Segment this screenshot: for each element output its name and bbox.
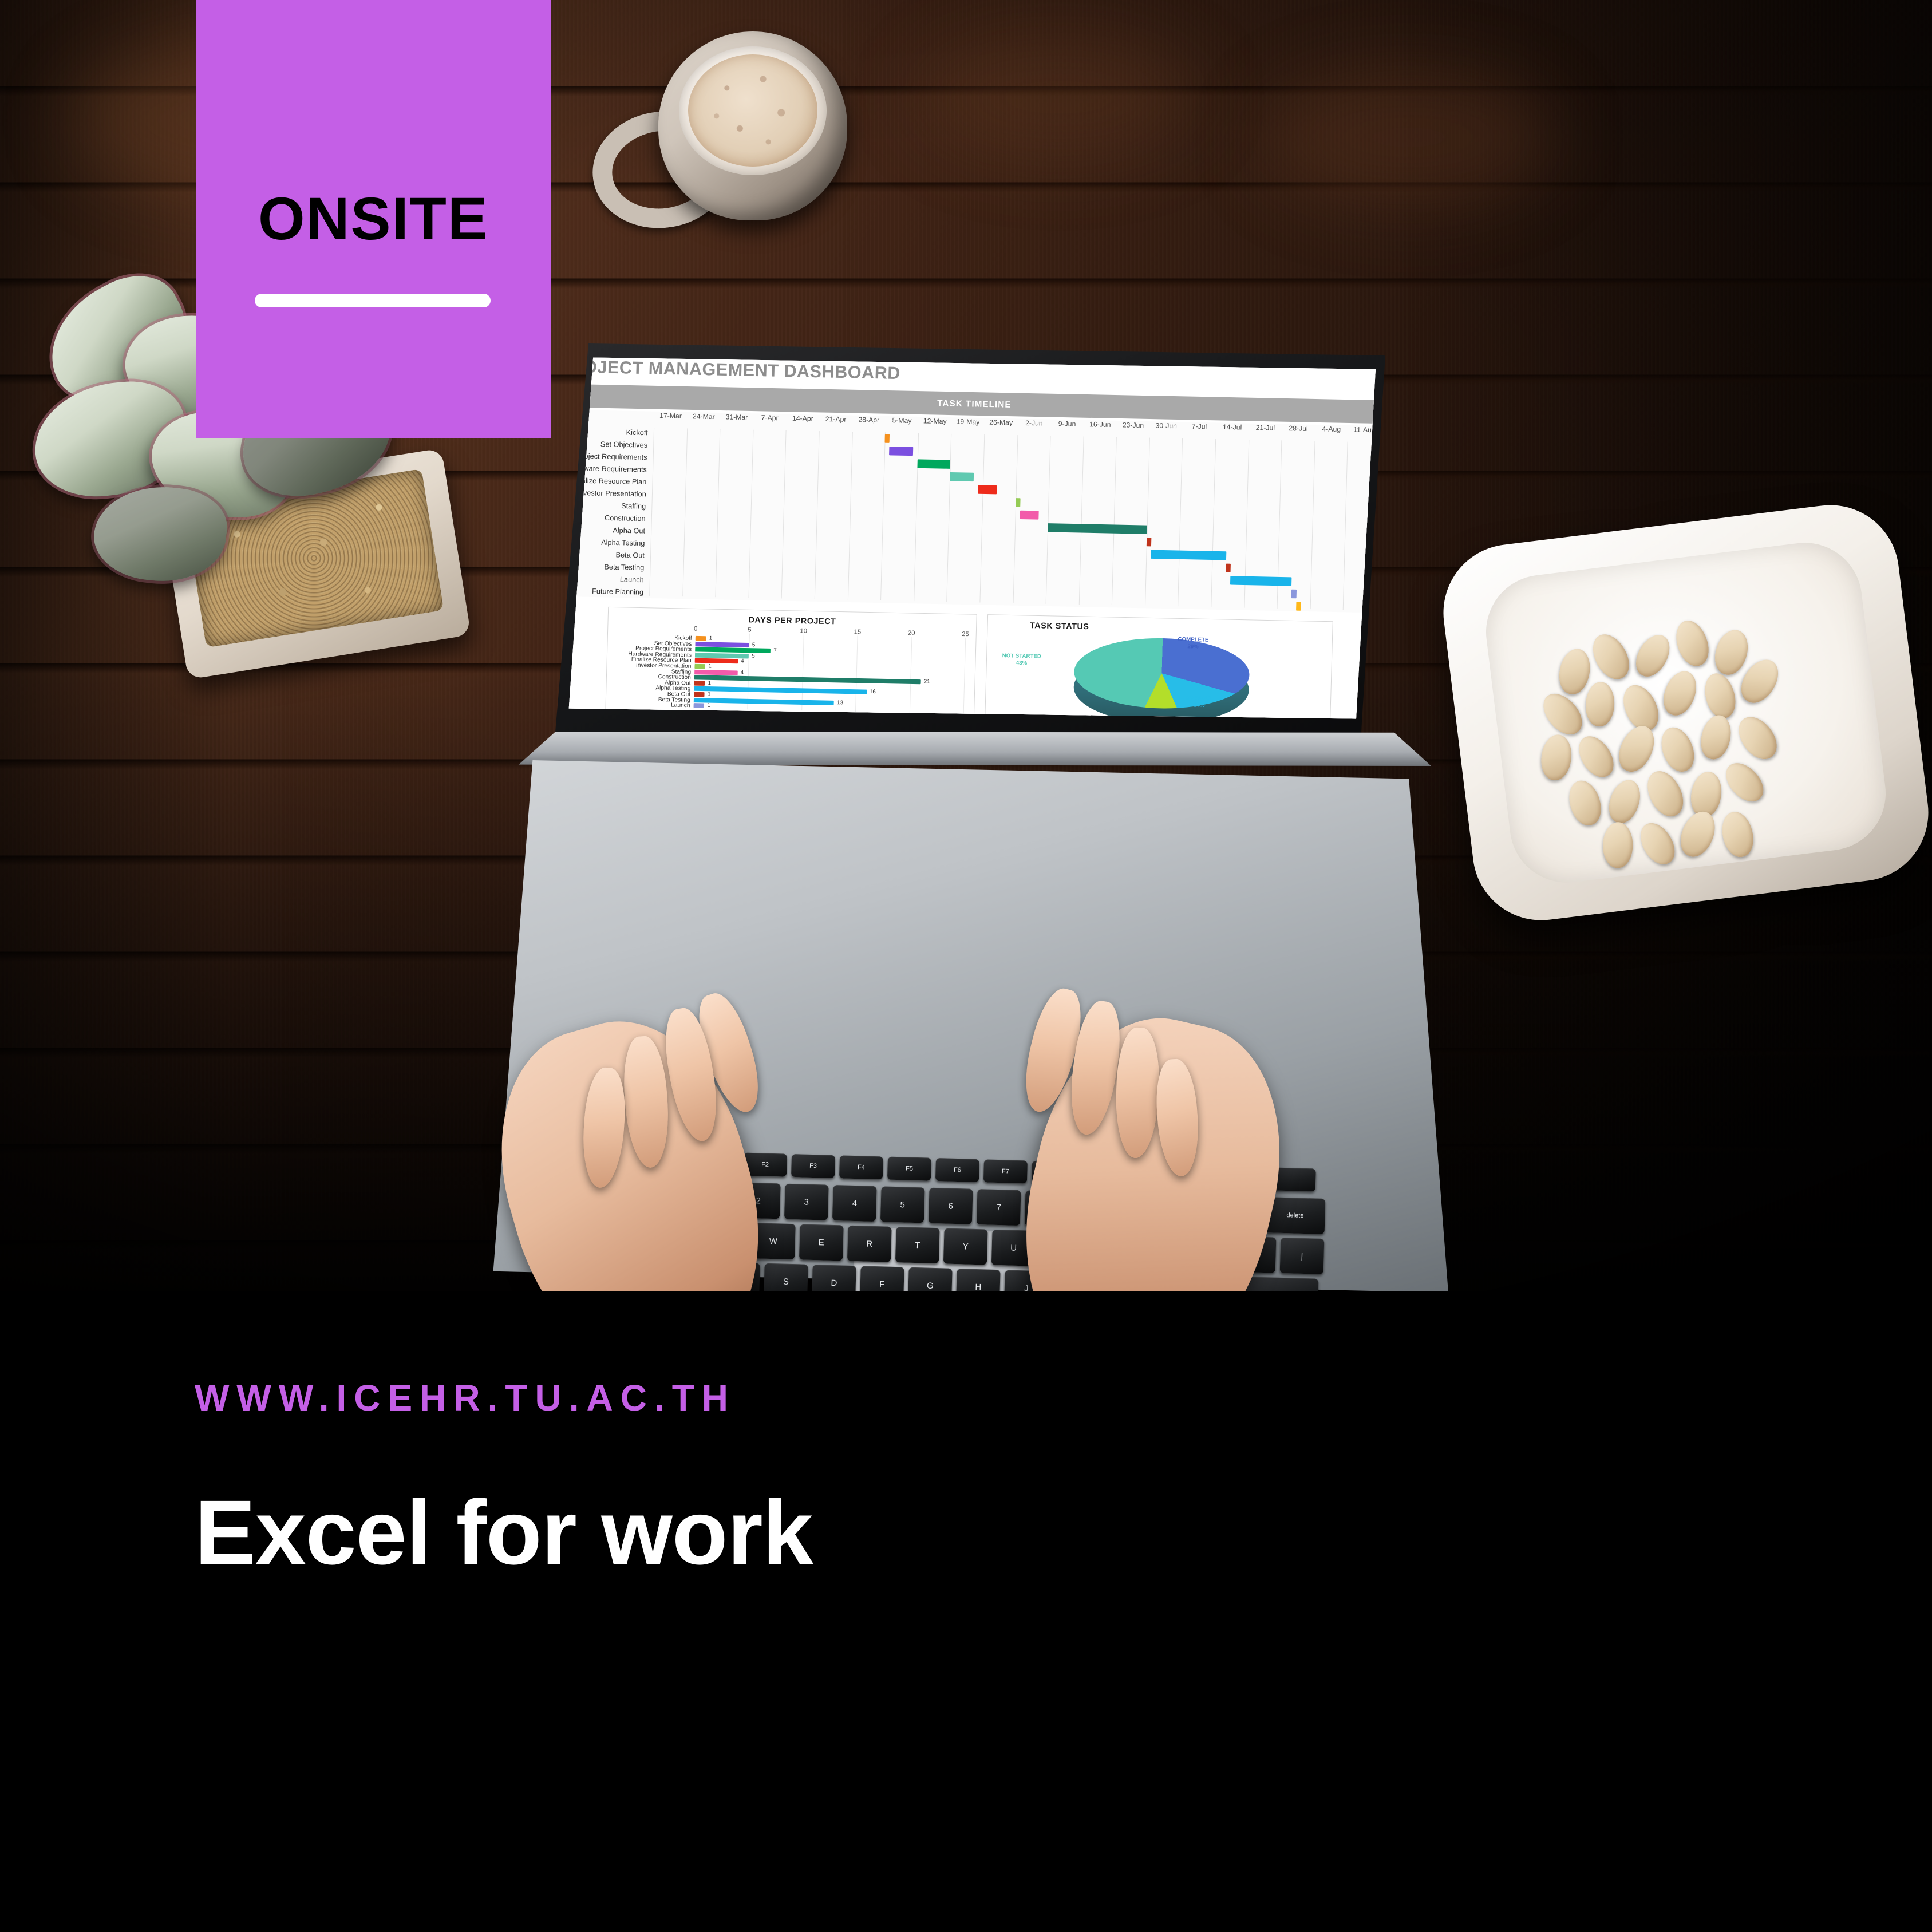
website-url[interactable]: WWW.ICEHR.TU.AC.TH bbox=[195, 1377, 736, 1419]
days-tick: 0 bbox=[694, 625, 698, 632]
key-f7[interactable]: F7 bbox=[983, 1159, 1028, 1183]
gantt-tick: 14-Apr bbox=[792, 414, 813, 423]
days-bar bbox=[694, 692, 705, 697]
gantt-bar bbox=[1147, 538, 1152, 546]
gantt-tick: 21-Apr bbox=[825, 415, 847, 424]
gantt-bar bbox=[889, 447, 913, 456]
pie-label-complete: COMPLETE29% bbox=[1178, 636, 1208, 650]
gantt-bar bbox=[1016, 498, 1021, 507]
gantt-tick: 19-May bbox=[956, 417, 979, 426]
dashboard-title: PROJECT MANAGEMENT DASHBOARD bbox=[566, 357, 900, 384]
gantt-tick: 23-Jun bbox=[1123, 421, 1144, 429]
gantt-bar bbox=[1296, 602, 1301, 610]
gantt-tick: 30-Jun bbox=[1155, 421, 1177, 430]
laptop-screen: PROJECT MANAGEMENT DASHBOARD TASK TIMELI… bbox=[566, 356, 1376, 722]
days-value-label: 1 bbox=[708, 663, 712, 669]
gantt-row-label: Set Objectives bbox=[600, 440, 648, 449]
laptop: PROJECT MANAGEMENT DASHBOARD TASK TIMELI… bbox=[498, 343, 1437, 1291]
days-tick: 10 bbox=[800, 627, 807, 634]
gantt-bar bbox=[885, 434, 890, 442]
gantt-tick: 17-Mar bbox=[659, 412, 682, 420]
days-tick: 25 bbox=[962, 631, 969, 638]
key-f[interactable]: F bbox=[860, 1266, 904, 1291]
gantt-bar bbox=[1151, 550, 1226, 560]
days-value-label: 16 bbox=[870, 689, 876, 695]
gantt-tick: 5-May bbox=[892, 416, 911, 425]
gantt-bar bbox=[978, 485, 997, 494]
days-per-project-panel: DAYS PER PROJECT 0510152025 Kickoff1Set … bbox=[605, 607, 977, 721]
pie-label-not-started: NOT STARTED43% bbox=[1002, 653, 1041, 667]
days-bar bbox=[695, 647, 771, 653]
days-value-label: 1 bbox=[708, 680, 711, 686]
gantt-plot-area: KickoffSet ObjectivesProject Requirement… bbox=[649, 428, 1376, 610]
gantt-bar bbox=[1048, 523, 1147, 534]
pie-label-overdue: OVERDUE14% bbox=[1186, 695, 1214, 709]
key-h[interactable]: H bbox=[956, 1269, 1001, 1291]
key-sym[interactable]: | bbox=[1280, 1238, 1325, 1274]
gantt-row-label: Beta Out bbox=[615, 551, 645, 559]
task-status-title: TASK STATUS bbox=[1030, 621, 1089, 631]
pistachio bbox=[1603, 822, 1633, 868]
course-headline: Excel for work bbox=[195, 1480, 813, 1585]
gantt-row-label: Alpha Out bbox=[613, 526, 645, 535]
days-bar bbox=[695, 658, 738, 664]
onsite-label: ONSITE bbox=[196, 189, 551, 249]
gantt-chart: 17-Mar24-Mar31-Mar7-Apr14-Apr21-Apr28-Ap… bbox=[566, 409, 1376, 613]
days-value-label: 4 bbox=[741, 669, 744, 675]
gantt-tick: 2-Jun bbox=[1025, 419, 1043, 428]
key-f5[interactable]: F5 bbox=[887, 1157, 931, 1181]
key-s[interactable]: S bbox=[764, 1263, 808, 1291]
key-r[interactable]: R bbox=[847, 1226, 892, 1262]
key-f4[interactable]: F4 bbox=[839, 1155, 883, 1179]
onsite-banner: ONSITE bbox=[196, 0, 551, 438]
screen-content: PROJECT MANAGEMENT DASHBOARD TASK TIMELI… bbox=[566, 356, 1376, 722]
days-bar bbox=[694, 664, 705, 669]
gantt-tick: 24-Mar bbox=[693, 412, 715, 421]
gantt-tick: 31-Mar bbox=[725, 413, 748, 421]
key-7[interactable]: 7 bbox=[977, 1189, 1021, 1226]
days-row-label: Launch bbox=[671, 702, 690, 709]
coffee-foam bbox=[688, 54, 817, 167]
gantt-tick: 21-Jul bbox=[1256, 424, 1275, 432]
gantt-row-label: Finalize Resource Plan bbox=[571, 476, 646, 486]
days-value-label: 13 bbox=[837, 700, 843, 706]
coffee-mug bbox=[658, 31, 847, 220]
key-5[interactable]: 5 bbox=[880, 1186, 925, 1223]
days-bar bbox=[694, 681, 705, 686]
days-tick: 20 bbox=[908, 630, 915, 637]
task-status-panel: TASK STATUS COMPLETE29% OVERDUE14% IN PR… bbox=[985, 614, 1333, 722]
days-value-label: 5 bbox=[752, 653, 755, 659]
days-bar bbox=[696, 636, 706, 641]
key-return[interactable]: return bbox=[1244, 1277, 1319, 1291]
gantt-row-label: Staffing bbox=[621, 502, 646, 511]
days-value-label: 1 bbox=[709, 635, 713, 641]
gantt-tick: 26-May bbox=[989, 418, 1013, 426]
footer: WWW.ICEHR.TU.AC.TH Excel for work bbox=[0, 1291, 1932, 1932]
days-per-project-title: DAYS PER PROJECT bbox=[748, 615, 836, 626]
laptop-hinge bbox=[509, 732, 1431, 766]
gantt-row-label: Construction bbox=[605, 514, 646, 523]
wood-highlight bbox=[916, 34, 1202, 160]
days-tick: 15 bbox=[854, 629, 862, 635]
mug-body bbox=[658, 31, 847, 220]
days-tick: 5 bbox=[748, 626, 752, 633]
gantt-tick: 7-Jul bbox=[1191, 422, 1207, 431]
banner-divider bbox=[255, 294, 491, 307]
gantt-tick: 4-Aug bbox=[1322, 425, 1341, 433]
poster: PROJECT MANAGEMENT DASHBOARD TASK TIMELI… bbox=[0, 0, 1932, 1932]
days-bar bbox=[694, 703, 705, 708]
key-g[interactable]: G bbox=[908, 1267, 953, 1291]
days-bar bbox=[694, 670, 738, 675]
gantt-bar bbox=[1291, 590, 1297, 598]
gantt-row-label: Project Requirements bbox=[577, 452, 647, 461]
gantt-bar bbox=[1226, 564, 1231, 572]
gantt-row-label: Investor Presentation bbox=[577, 489, 646, 499]
pistachio-plate bbox=[1436, 497, 1932, 929]
task-status-pie: COMPLETE29% OVERDUE14% IN PROGRESS14% NO… bbox=[1073, 637, 1250, 719]
days-value-label: 1 bbox=[707, 702, 710, 709]
key-f3[interactable]: F3 bbox=[791, 1154, 835, 1178]
key-e[interactable]: E bbox=[799, 1224, 844, 1261]
laptop-lid: PROJECT MANAGEMENT DASHBOARD TASK TIMELI… bbox=[555, 343, 1385, 744]
project-management-dashboard: PROJECT MANAGEMENT DASHBOARD TASK TIMELI… bbox=[566, 356, 1376, 722]
gantt-tick: 14-Jul bbox=[1223, 423, 1242, 432]
gantt-tick: 9-Jun bbox=[1058, 420, 1076, 428]
gantt-row-label: Launch bbox=[620, 575, 644, 584]
gantt-row-label: Alpha Testing bbox=[601, 538, 645, 547]
days-value-label: 4 bbox=[741, 658, 744, 665]
days-value-label: 7 bbox=[773, 647, 777, 654]
gantt-bar bbox=[1020, 511, 1038, 520]
days-value-label: 21 bbox=[924, 678, 930, 685]
task-timeline-label: TASK TIMELINE bbox=[937, 398, 1012, 409]
gantt-row-label: Kickoff bbox=[626, 428, 647, 437]
gantt-bar bbox=[917, 459, 950, 468]
gantt-tick: 11-Aug bbox=[1353, 425, 1376, 434]
days-bar bbox=[695, 642, 749, 647]
gantt-bar bbox=[950, 472, 974, 481]
key-y[interactable]: Y bbox=[943, 1228, 988, 1265]
days-value-label: 1 bbox=[708, 691, 711, 697]
key-f6[interactable]: F6 bbox=[935, 1158, 979, 1182]
key-d[interactable]: D bbox=[812, 1265, 856, 1291]
gantt-row-label: Beta Testing bbox=[604, 563, 644, 572]
gantt-row-label: Future Planning bbox=[592, 587, 643, 596]
gantt-tick: 16-Jun bbox=[1089, 420, 1111, 429]
gantt-tick: 28-Jul bbox=[1289, 424, 1308, 433]
key-delete[interactable]: delete bbox=[1265, 1197, 1326, 1234]
gantt-tick: 28-Apr bbox=[858, 416, 879, 424]
days-plot-area: Kickoff1Set Objectives5Project Requireme… bbox=[694, 636, 966, 714]
gantt-row-label: Hardware Requirements bbox=[568, 464, 647, 474]
key-6[interactable]: 6 bbox=[929, 1188, 973, 1224]
days-value-label: 5 bbox=[752, 642, 756, 648]
gantt-tick: 7-Apr bbox=[761, 413, 779, 422]
key-3[interactable]: 3 bbox=[784, 1184, 829, 1220]
wood-highlight bbox=[1259, 69, 1557, 206]
key-t[interactable]: T bbox=[895, 1227, 940, 1263]
gantt-tick: 12-May bbox=[923, 417, 947, 425]
key-4[interactable]: 4 bbox=[832, 1185, 877, 1222]
gantt-bar bbox=[1230, 576, 1292, 586]
